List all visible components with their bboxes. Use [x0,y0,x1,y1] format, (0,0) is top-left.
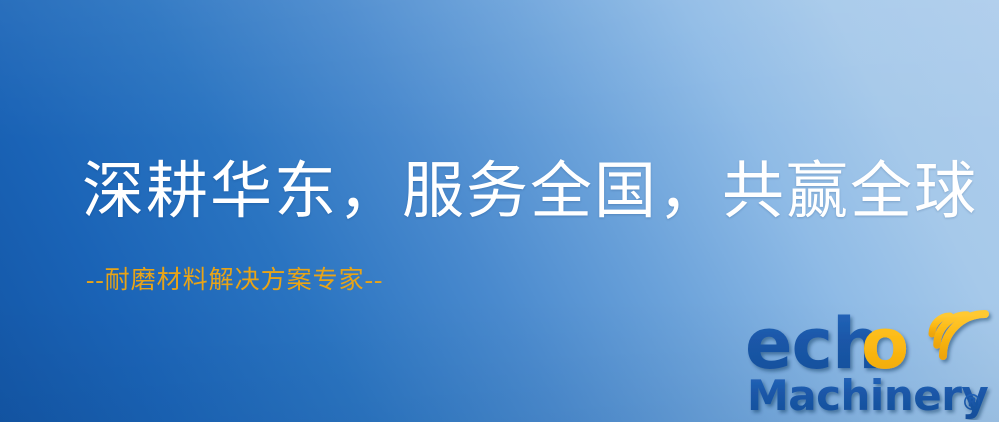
banner-headline: 深耕华东，服务全国，共赢全球 [82,155,978,229]
logo-subword-machinery: Machinery ® [747,371,988,420]
banner-subheadline: --耐磨材料解决方案专家-- [86,265,383,297]
hero-banner: 深耕华东，服务全国，共赢全球 --耐磨材料解决方案专家-- [0,0,999,422]
echo-machinery-logo[interactable]: ech o Machinery ® [739,292,995,420]
echo-wave-icon [932,314,985,356]
svg-text:Machinery: Machinery [747,371,988,420]
svg-text:®: ® [961,391,983,416]
